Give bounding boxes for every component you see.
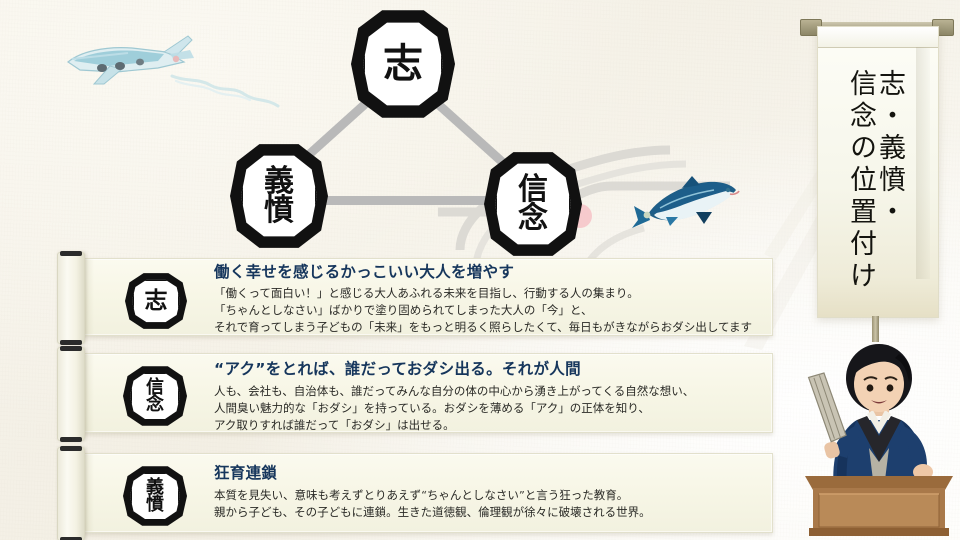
row-body-2-line-3: アク取りすれば誰だって「おダシ」は出せる。 xyxy=(214,417,694,434)
scroll-roller-3 xyxy=(57,447,85,540)
row-body-1-line-2: 「ちゃんとしなさい」ばかりで塗り固められてしまった大人の「今」と、 xyxy=(214,302,752,319)
diagram-node-top[interactable]: 志 xyxy=(351,8,455,120)
banner-column-left: 信念の位置付け xyxy=(847,69,874,293)
row-body-1-line-1: 「働くって面白い！」と感じる大人あふれる未来を目指し、行動する人の集まり。 xyxy=(214,285,752,302)
row-heading-3: 狂育連鎖 xyxy=(214,461,277,483)
diagram-node-left-label: 義 憤 xyxy=(241,153,317,239)
row-badge-2[interactable]: 信 念 xyxy=(123,365,187,427)
scroll-row-2[interactable]: 信 念 “アク”をとれば、誰だっておダシ出る。それが人間 人も、会社も、自治体も… xyxy=(57,347,773,439)
slide-canvas: 志 義 憤 信 念 志 働く幸せを感じるかっこいい大人を増やす 「働くって面白い… xyxy=(0,0,960,540)
row-heading-1: 働く幸せを感じるかっこいい大人を増やす xyxy=(214,260,514,282)
row-badge-3-label: 義 憤 xyxy=(130,472,180,521)
row-body-2: 人も、会社も、自治体も、誰だってみんな自分の体の中心から湧き上がってくる自然な想… xyxy=(214,383,694,434)
row-badge-1-label: 志 xyxy=(132,279,180,324)
banner-text: 志・義憤・ 信念の位置付け xyxy=(818,69,932,293)
diagram-node-top-label: 志 xyxy=(363,20,443,108)
contrail-illustration xyxy=(170,72,280,112)
node-left-char-1: 義 xyxy=(264,167,294,196)
node-right-char-1: 信 xyxy=(518,175,548,204)
row-body-2-line-2: 人間臭い魅力的な「おダシ」を持っている。おダシを薄める「アク」の正体を知り、 xyxy=(214,400,694,417)
row-badge-2-char-2: 念 xyxy=(146,396,164,413)
scroll-roller-1 xyxy=(57,252,85,344)
diagram-node-right-label: 信 念 xyxy=(495,161,571,247)
node-left-char-2: 憤 xyxy=(264,196,294,225)
row-badge-2-label: 信 念 xyxy=(130,372,180,421)
banner-column-right: 志・義憤・ xyxy=(876,69,903,293)
node-right-char-2: 念 xyxy=(518,204,548,233)
row-body-3-line-1: 本質を見失い、意味も考えずとりあえず“ちゃんとしなさい”と言う狂った教育。 xyxy=(214,487,651,504)
scroll-row-1[interactable]: 志 働く幸せを感じるかっこいい大人を増やす 「働くって面白い！」と感じる大人あふ… xyxy=(57,252,773,342)
bonito-fish-illustration xyxy=(630,168,742,238)
diagram-node-right[interactable]: 信 念 xyxy=(484,150,582,258)
row-body-3: 本質を見失い、意味も考えずとりあえず“ちゃんとしなさい”と言う狂った教育。 親か… xyxy=(214,487,651,521)
row-body-3-line-2: 親から子ども、その子どもに連鎖。生きた道徳観、倫理観が徐々に破壊される世界。 xyxy=(214,504,651,521)
row-body-1-line-3: それで育ってしまう子どもの「未来」をもっと明るく照らしたくて、毎日もがきながらお… xyxy=(214,319,752,336)
row-badge-3[interactable]: 義 憤 xyxy=(123,465,187,527)
row-body-2-line-1: 人も、会社も、自治体も、誰だってみんな自分の体の中心から湧き上がってくる自然な想… xyxy=(214,383,694,400)
rakugo-storyteller-illustration xyxy=(795,330,960,540)
diagram-node-left[interactable]: 義 憤 xyxy=(230,142,328,250)
row-heading-2: “アク”をとれば、誰だっておダシ出る。それが人間 xyxy=(214,357,581,379)
row-badge-3-char-2: 憤 xyxy=(146,496,164,513)
row-badge-1[interactable]: 志 xyxy=(125,272,187,330)
row-body-1: 「働くって面白い！」と感じる大人あふれる未来を目指し、行動する人の集まり。 「ち… xyxy=(214,285,752,336)
hanging-scroll-banner: 志・義憤・ 信念の位置付け xyxy=(817,26,939,318)
banner-top-hem xyxy=(818,27,938,48)
scroll-roller-2 xyxy=(57,347,85,441)
scroll-row-3[interactable]: 義 憤 狂育連鎖 本質を見失い、意味も考えずとりあえず“ちゃんとしなさい”と言う… xyxy=(57,447,773,539)
